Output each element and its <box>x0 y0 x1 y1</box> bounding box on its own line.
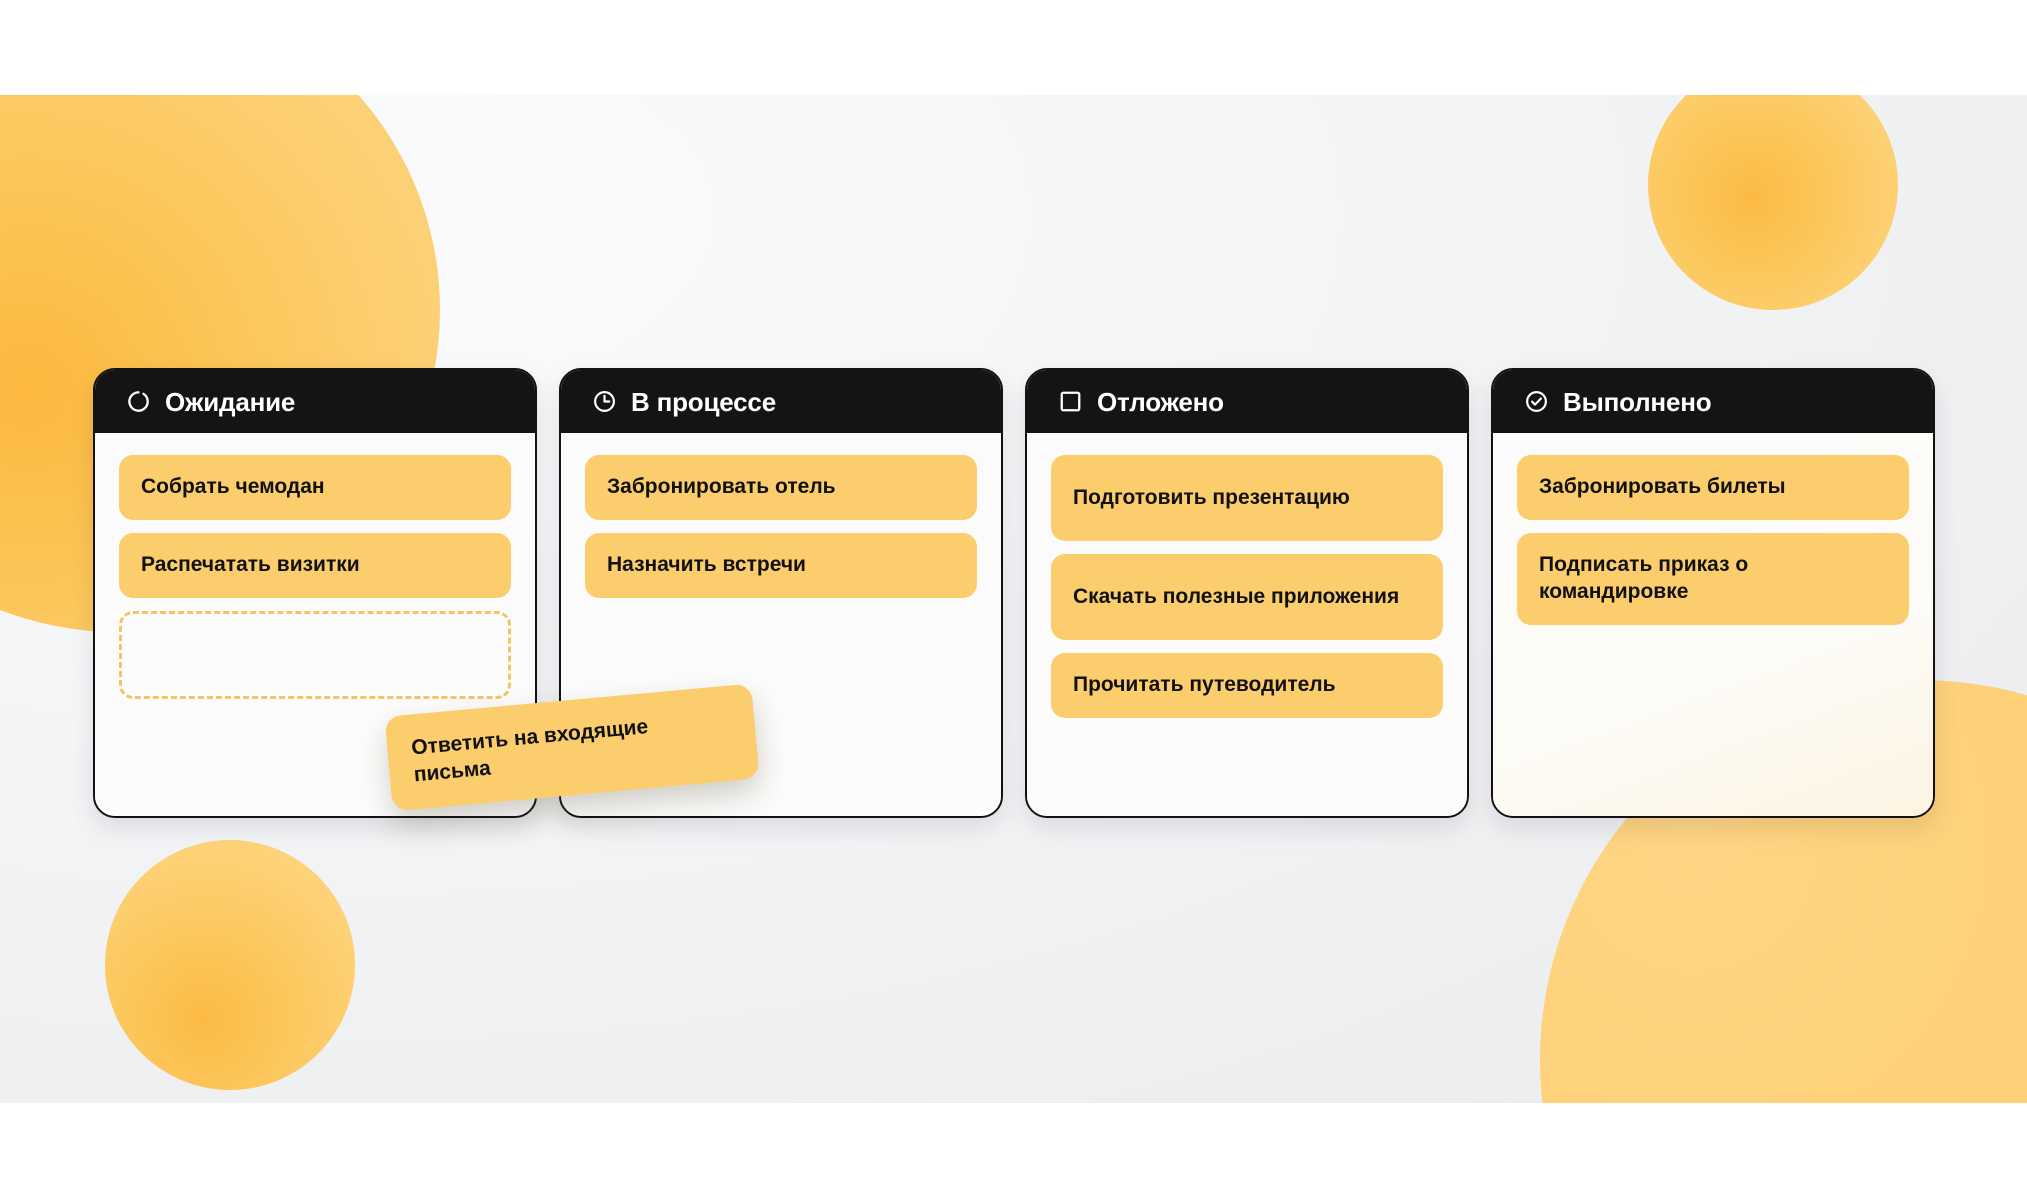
column-title-done: Выполнено <box>1563 389 1711 415</box>
drop-placeholder[interactable] <box>119 611 511 699</box>
task-card[interactable]: Прочитать путеводитель <box>1051 653 1443 718</box>
column-header-postponed[interactable]: Отложено <box>1027 370 1467 433</box>
task-card[interactable]: Распечатать визитки <box>119 533 511 598</box>
decorative-circle-bottom-left <box>105 840 355 1090</box>
column-body-postponed: Подготовить презентациюСкачать полезные … <box>1027 433 1467 816</box>
task-card-label: Забронировать билеты <box>1539 474 1786 501</box>
column-header-waiting[interactable]: Ожидание <box>95 370 535 433</box>
column-title-in-progress: В процессе <box>631 389 776 415</box>
task-card[interactable]: Собрать чемодан <box>119 455 511 520</box>
clock-icon <box>591 389 617 415</box>
column-body-done: Забронировать билетыПодписать приказ о к… <box>1493 433 1933 816</box>
hourglass-circle-icon <box>125 389 151 415</box>
check-circle-icon <box>1523 389 1549 415</box>
task-card-label: Назначить встречи <box>607 552 806 579</box>
kanban-column-postponed: ОтложеноПодготовить презентациюСкачать п… <box>1025 368 1469 818</box>
kanban-column-done: ВыполненоЗабронировать билетыПодписать п… <box>1491 368 1935 818</box>
column-header-in-progress[interactable]: В процессе <box>561 370 1001 433</box>
task-card-label: Распечатать визитки <box>141 552 360 579</box>
task-card-label: Скачать полезные приложения <box>1073 584 1399 611</box>
task-card-label: Прочитать путеводитель <box>1073 672 1336 699</box>
task-card[interactable]: Назначить встречи <box>585 533 977 598</box>
column-title-waiting: Ожидание <box>165 389 295 415</box>
task-card-label: Подписать приказ о командировке <box>1539 552 1887 606</box>
kanban-columns: ОжиданиеСобрать чемоданРаспечатать визит… <box>93 368 1935 818</box>
column-title-postponed: Отложено <box>1097 389 1224 415</box>
task-card-label: Подготовить презентацию <box>1073 485 1350 512</box>
task-card-label: Собрать чемодан <box>141 474 325 501</box>
task-card-label: Забронировать отель <box>607 474 836 501</box>
square-icon <box>1057 389 1083 415</box>
column-header-done[interactable]: Выполнено <box>1493 370 1933 433</box>
dragging-task-card-label: Ответить на входящие письма <box>410 715 649 787</box>
kanban-board-screen: ОжиданиеСобрать чемоданРаспечатать визит… <box>0 0 2027 1200</box>
task-card[interactable]: Забронировать билеты <box>1517 455 1909 520</box>
task-card[interactable]: Забронировать отель <box>585 455 977 520</box>
task-card[interactable]: Подписать приказ о командировке <box>1517 533 1909 625</box>
task-card[interactable]: Скачать полезные приложения <box>1051 554 1443 640</box>
task-card[interactable]: Подготовить презентацию <box>1051 455 1443 541</box>
decorative-circle-top-right <box>1648 95 1898 310</box>
